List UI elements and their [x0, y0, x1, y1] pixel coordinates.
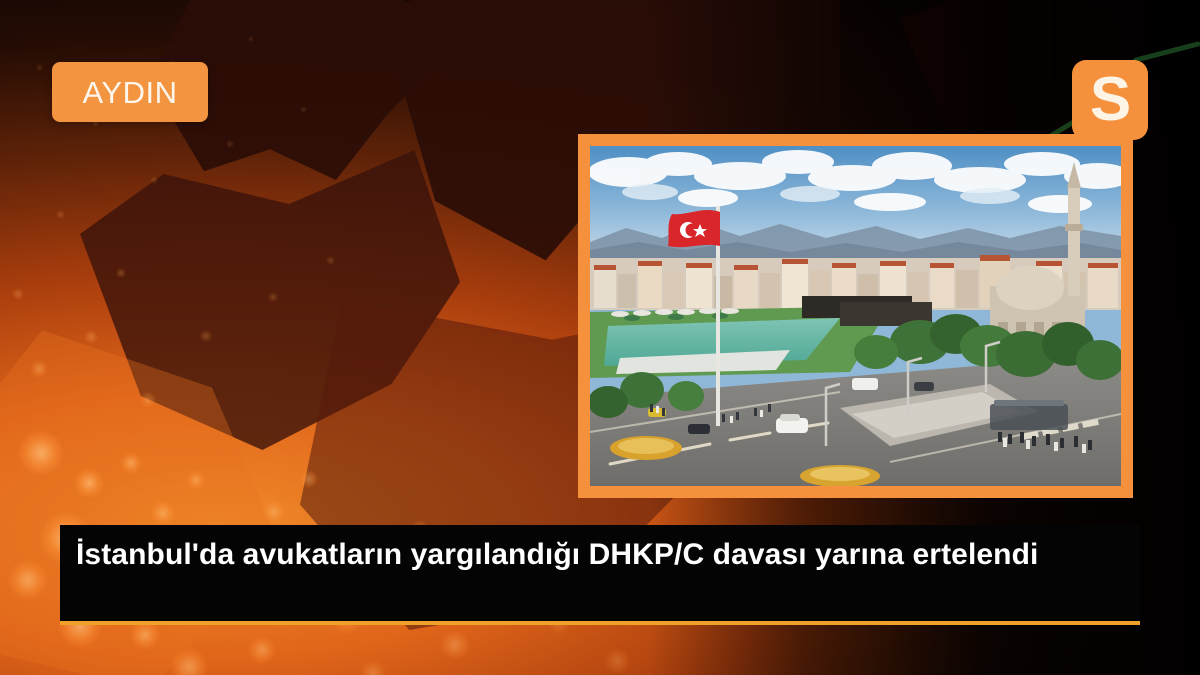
page-title: İstanbul'da avukatların yargılandığı DHK…	[76, 537, 1124, 574]
city-badge[interactable]: AYDIN	[52, 62, 208, 122]
brand-logo-letter: S	[1090, 69, 1130, 131]
news-card: AYDIN S	[0, 0, 1200, 675]
city-square-photo	[590, 146, 1121, 486]
photo-card[interactable]	[578, 134, 1133, 498]
city-badge-label: AYDIN	[83, 77, 178, 108]
headline-panel: İstanbul'da avukatların yargılandığı DHK…	[60, 525, 1140, 625]
brand-logo[interactable]: S	[1072, 60, 1148, 140]
